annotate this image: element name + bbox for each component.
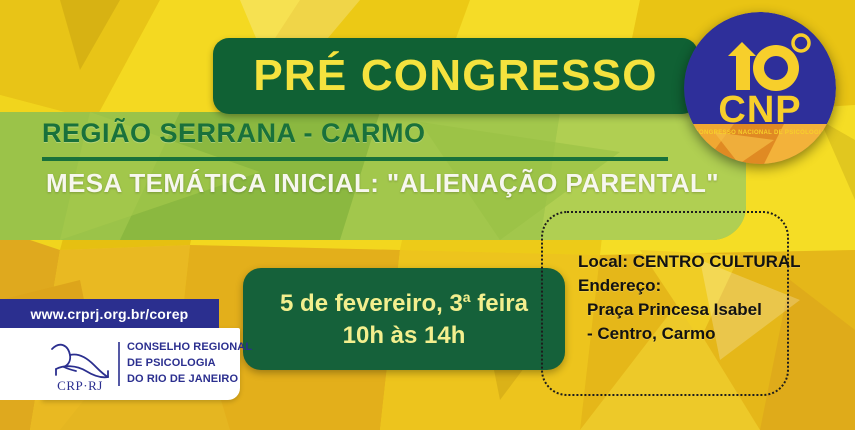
location-address-label: Endereço: (578, 274, 808, 298)
crp-rj-wordmark: CONSELHO REGIONAL DE PSICOLOGIA DO RIO D… (127, 340, 252, 388)
date-ordinal-suffix: a (463, 289, 471, 305)
page-title: PRÉ CONGRESSO (253, 54, 657, 98)
website-url-text: www.crprj.org.br/corep (31, 306, 189, 322)
website-url-bar[interactable]: www.crprj.org.br/corep (0, 299, 219, 328)
crp-divider (118, 342, 120, 386)
crp-line-2: DE PSICOLOGIA (127, 356, 252, 372)
svg-text:CRP·RJ: CRP·RJ (57, 378, 103, 393)
date-line: 5 de fevereiro, 3a feira (280, 289, 528, 318)
cnp-logo: CNP CONGRESSO NACIONAL DE PSICOLOGIA (684, 12, 836, 164)
theme-line: MESA TEMÁTICA INICIAL: "ALIENAÇÃO PARENT… (46, 168, 719, 199)
event-poster: PRÉ CONGRESSO REGIÃO SERRANA - CARMO MES… (0, 0, 855, 430)
crp-rj-bird-book-icon: CRP·RJ (42, 335, 118, 393)
location-venue: Local: CENTRO CULTURAL (578, 250, 808, 274)
location-text-block: Local: CENTRO CULTURAL Endereço: Praça P… (578, 250, 808, 347)
location-address-line2: - Centro, Carmo (578, 322, 808, 346)
region-divider (42, 157, 668, 161)
location-address-line1: Praça Princesa Isabel (578, 298, 808, 322)
date-box: 5 de fevereiro, 3a feira 10h às 14h (243, 268, 565, 370)
region-subtitle: REGIÃO SERRANA - CARMO (42, 118, 426, 149)
svg-text:CONGRESSO NACIONAL DE PSICOLOG: CONGRESSO NACIONAL DE PSICOLOGIA (694, 130, 826, 136)
crp-line-1: CONSELHO REGIONAL (127, 340, 252, 356)
crp-rj-logo-card: CRP·RJ CONSELHO REGIONAL DE PSICOLOGIA D… (42, 328, 240, 400)
main-title-bar: PRÉ CONGRESSO (213, 38, 698, 114)
date-text-suffix: feira (471, 290, 528, 317)
svg-text:CNP: CNP (718, 89, 801, 131)
date-text-prefix: 5 de fevereiro, 3 (280, 290, 463, 317)
time-line: 10h às 14h (343, 322, 466, 350)
crp-line-3: DO RIO DE JANEIRO (127, 372, 252, 388)
